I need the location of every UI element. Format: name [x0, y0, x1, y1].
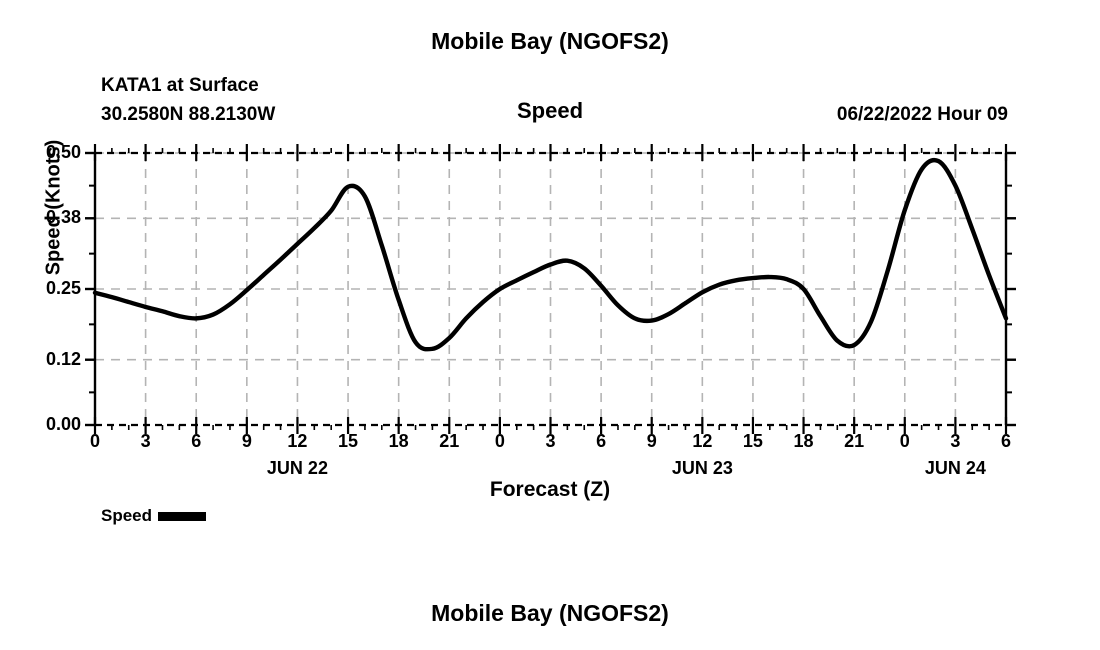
legend-label-speed: Speed — [101, 506, 152, 526]
x-tick-label: 3 — [935, 431, 975, 452]
x-tick-label: 0 — [75, 431, 115, 452]
x-tick-label: 6 — [986, 431, 1026, 452]
x-tick-label: 15 — [733, 431, 773, 452]
y-tick-label: 0.12 — [11, 349, 81, 370]
x-tick-label: 9 — [632, 431, 672, 452]
day-label: JUN 23 — [632, 458, 772, 479]
x-tick-label: 15 — [328, 431, 368, 452]
day-label: JUN 22 — [227, 458, 367, 479]
gridlines — [95, 153, 1006, 425]
plot-area: Speed (Knots) Forecast (Z) 0.000.120.250… — [0, 0, 1100, 650]
x-axis-label: Forecast (Z) — [0, 478, 1100, 502]
x-tick-label: 6 — [176, 431, 216, 452]
x-tick-label: 21 — [429, 431, 469, 452]
x-tick-label: 12 — [277, 431, 317, 452]
chart-legend: Speed — [101, 506, 206, 526]
page-title-bottom: Mobile Bay (NGOFS2) — [0, 600, 1100, 627]
x-tick-label: 0 — [480, 431, 520, 452]
y-tick-label: 0.25 — [11, 278, 81, 299]
x-tick-label: 0 — [885, 431, 925, 452]
x-tick-label: 3 — [531, 431, 571, 452]
y-tick-label: 0.38 — [11, 207, 81, 228]
x-tick-label: 18 — [784, 431, 824, 452]
x-tick-label: 12 — [682, 431, 722, 452]
y-tick-label: 0.50 — [11, 142, 81, 163]
x-tick-label: 6 — [581, 431, 621, 452]
legend-swatch-speed — [158, 512, 206, 521]
chart-page: Mobile Bay (NGOFS2) KATA1 at Surface 30.… — [0, 0, 1100, 650]
day-label: JUN 24 — [885, 458, 1025, 479]
x-tick-label: 3 — [126, 431, 166, 452]
speed-line-chart — [0, 0, 1100, 650]
x-tick-label: 18 — [379, 431, 419, 452]
y-tick-label: 0.00 — [11, 414, 81, 435]
x-tick-label: 9 — [227, 431, 267, 452]
x-tick-label: 21 — [834, 431, 874, 452]
